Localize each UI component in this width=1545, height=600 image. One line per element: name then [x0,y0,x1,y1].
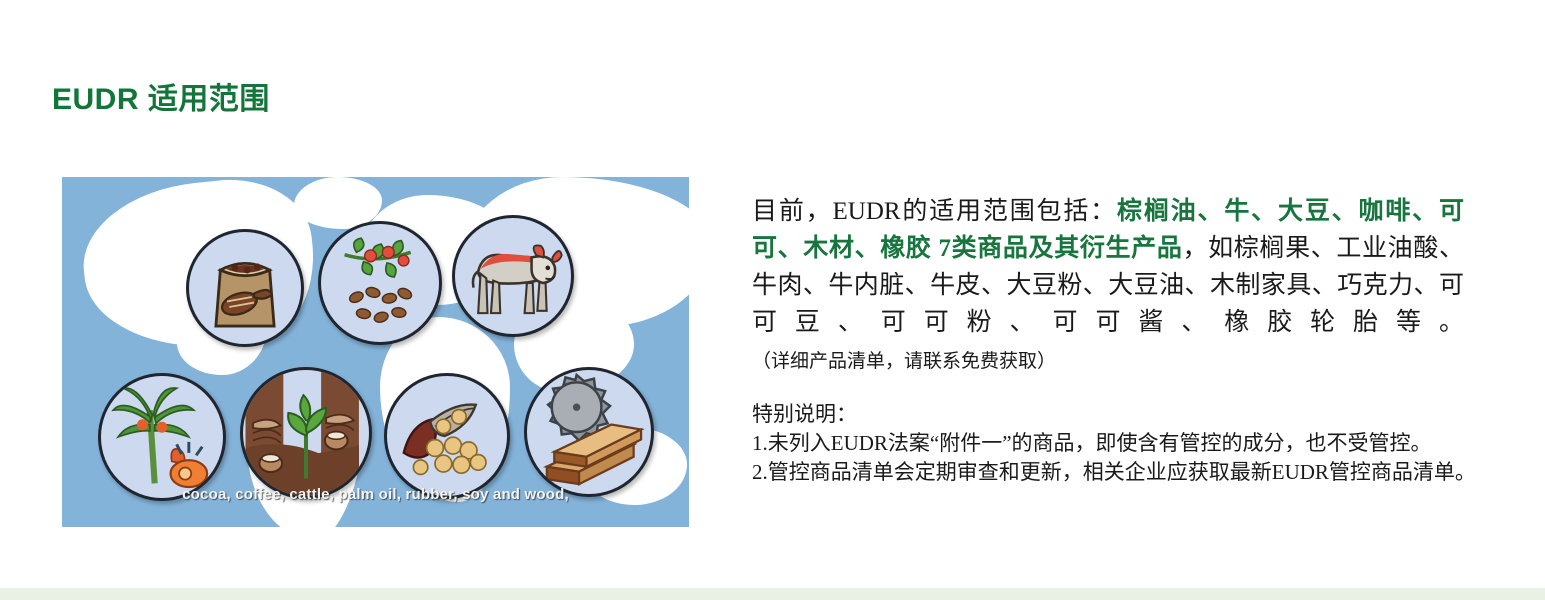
illustration-caption: cocoa, coffee, cattle, palm oil, rubber,… [62,486,689,503]
commodities-illustration: cocoa, coffee, cattle, palm oil, rubber,… [62,177,689,527]
rubber-tapping-tree-icon [240,367,372,499]
body-paren-note: （详细产品清单，请联系免费获取） [752,351,1056,372]
body-text-column: 目前，EUDR的适用范围包括：棕榈油、牛、大豆、咖啡、可可、木材、橡胶 7类商品… [752,193,1464,380]
note-item-1: 1.未列入EUDR法案“附件一”的商品，即使含有管控的成分，也不受管控。 [752,429,1464,458]
notes-heading: 特别说明： [752,400,1464,429]
special-notes-block: 特别说明： 1.未列入EUDR法案“附件一”的商品，即使含有管控的成分，也不受管… [752,400,1464,487]
bottom-accent-band [0,588,1545,600]
cocoa-sack-icon [186,229,304,347]
page-title: EUDR 适用范围 [52,74,270,118]
body-lead-in: 目前，EUDR的适用范围包括： [752,198,1117,225]
wood-sawblade-timber-icon [524,367,654,497]
cattle-cow-icon [452,215,574,337]
body-paragraph: 目前，EUDR的适用范围包括：棕榈油、牛、大豆、咖啡、可可、木材、橡胶 7类商品… [752,193,1464,380]
note-item-2: 2.管控商品清单会定期审查和更新，相关企业应获取最新EUDR管控商品清单。 [752,458,1464,487]
palm-oil-tree-icon [98,373,226,501]
coffee-branch-beans-icon [318,221,442,345]
soy-beans-pod-icon [384,373,510,499]
